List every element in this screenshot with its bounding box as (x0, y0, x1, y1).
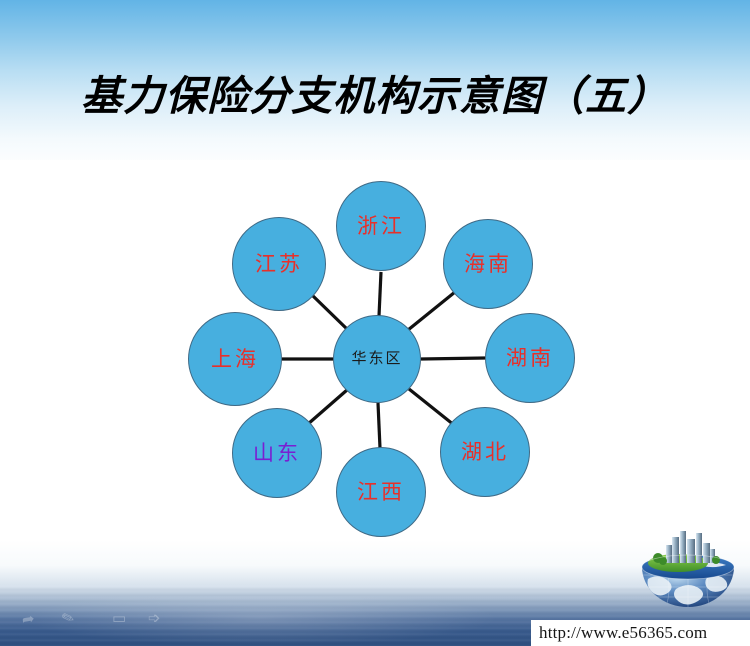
node-jiangxi[interactable]: 江西 (336, 447, 426, 537)
edge-center-shandong (308, 390, 347, 424)
node-zhejiang[interactable]: 浙江 (336, 181, 426, 271)
edge-center-hunan (421, 358, 485, 359)
edge-center-hubei (409, 389, 454, 425)
node-shanghai[interactable]: 上海 (188, 312, 282, 406)
edge-center-jiangxi (378, 403, 380, 448)
edge-center-zhejiang (379, 272, 381, 316)
edge-center-jiangsu (312, 295, 348, 330)
node-huadong-region-center[interactable]: 华东区 (333, 315, 421, 403)
node-hainan[interactable]: 海南 (443, 219, 533, 309)
slide-canvas: ➦ ✎ ▭ ➩ 基力保险分支机构示意图（五） 浙江 海南 湖南 湖北 江西 山东… (0, 0, 750, 646)
node-jiangsu[interactable]: 江苏 (232, 217, 326, 311)
edge-center-hainan (408, 292, 455, 330)
footer-url-bar: http://www.e56365.com (531, 620, 750, 646)
node-shandong[interactable]: 山东 (232, 408, 322, 498)
earth-city-globe-logo (636, 527, 740, 623)
node-hunan[interactable]: 湖南 (485, 313, 575, 403)
footer-url-text[interactable]: http://www.e56365.com (539, 623, 707, 643)
node-hubei[interactable]: 湖北 (440, 407, 530, 497)
